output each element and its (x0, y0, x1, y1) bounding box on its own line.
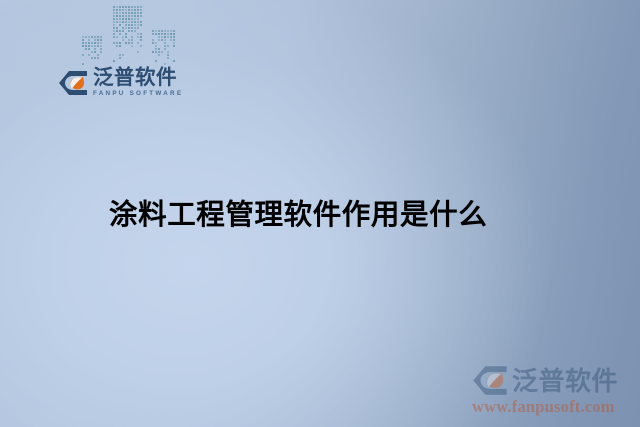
watermark-logo-mark-icon (472, 365, 508, 396)
fanpu-logo-mark-icon (58, 70, 88, 96)
company-logo: 泛普软件 FANPU SOFTWARE (58, 68, 183, 97)
logo-text-block: 泛普软件 FANPU SOFTWARE (93, 68, 183, 97)
poster-canvas: 泛普软件 FANPU SOFTWARE 涂料工程管理软件作用是什么 泛普软件 w… (0, 0, 640, 427)
watermark-company-name: 泛普软件 (512, 368, 618, 394)
brand-block: 泛普软件 FANPU SOFTWARE (52, 2, 192, 110)
page-title: 涂料工程管理软件作用是什么 (109, 199, 487, 232)
pixel-skyline-graphic (82, 6, 178, 66)
watermark-logo: 泛普软件 (472, 365, 618, 396)
watermark-url: www.fanpusoft.com (472, 397, 615, 417)
watermark: 泛普软件 www.fanpusoft.com (468, 363, 636, 421)
logo-company-name-en: FANPU SOFTWARE (93, 91, 183, 97)
logo-company-name-cn: 泛普软件 (93, 68, 183, 89)
